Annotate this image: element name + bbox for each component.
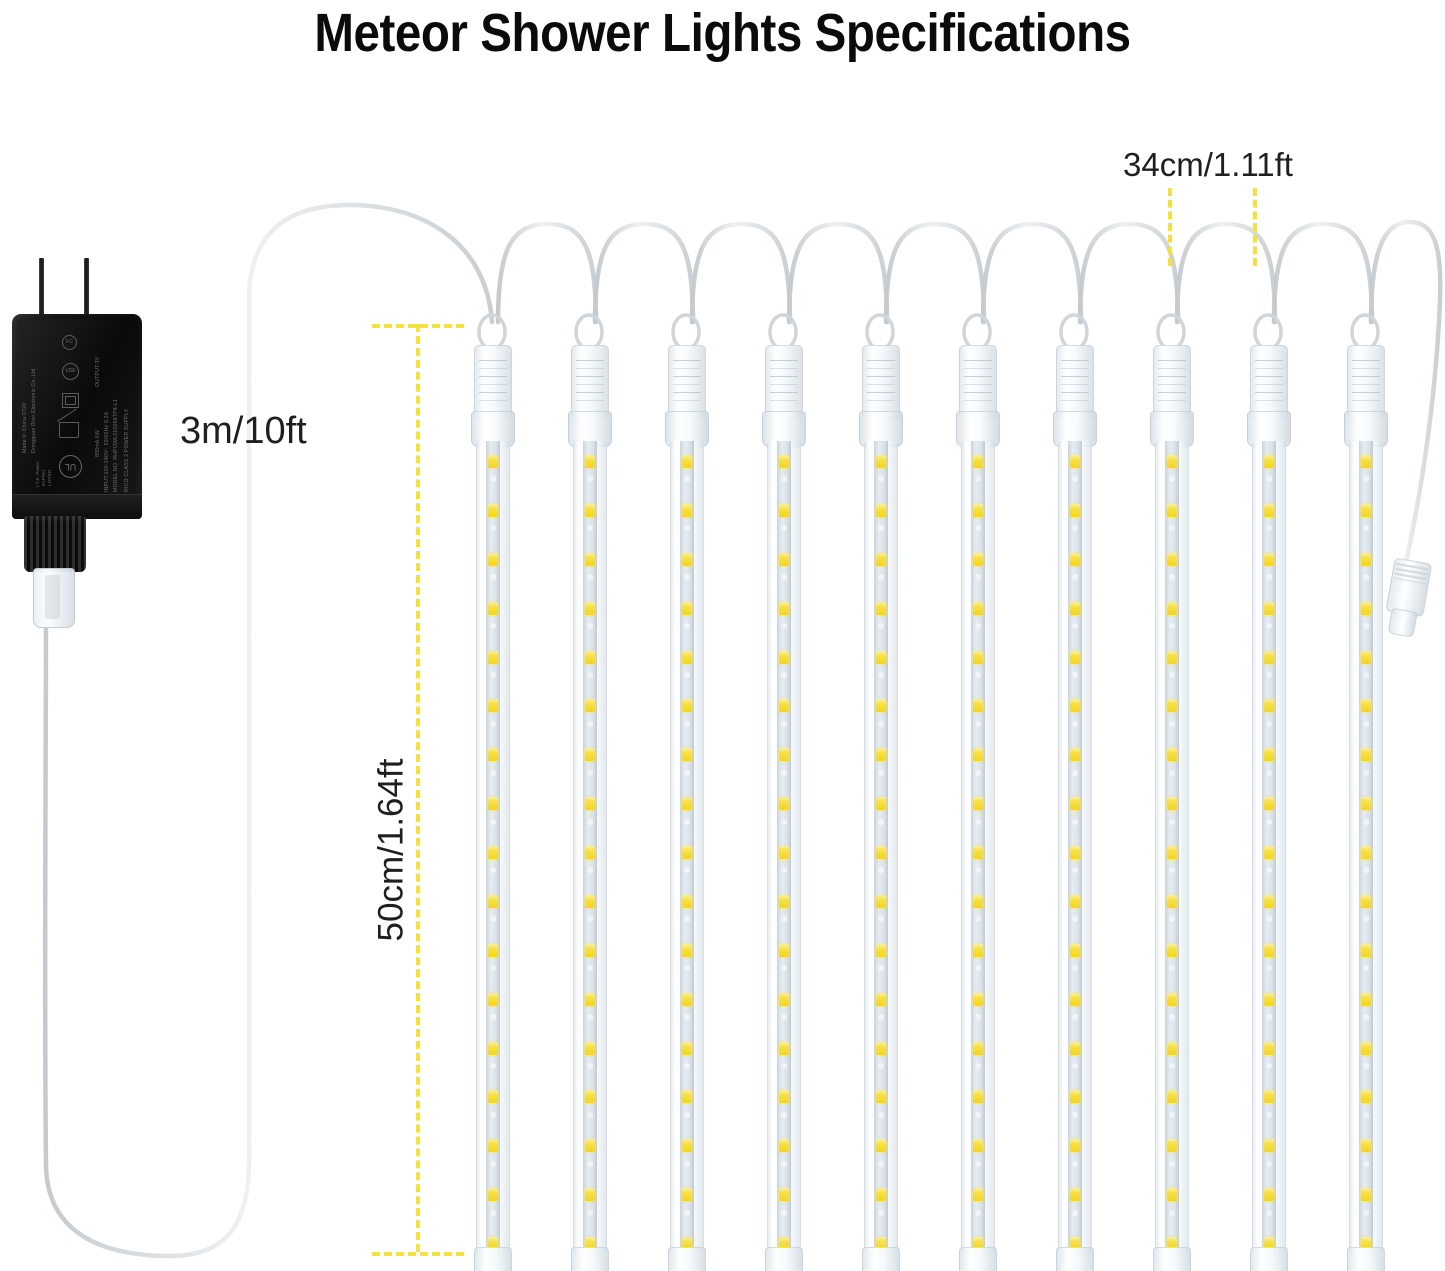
led-chip xyxy=(876,553,886,566)
hanging-loop-2 xyxy=(576,315,602,349)
led-solder-dot xyxy=(684,1161,690,1167)
led-chip xyxy=(876,748,886,761)
led-solder-dot xyxy=(1363,623,1369,629)
led-solder-dot xyxy=(878,770,884,776)
led-solder-dot xyxy=(975,525,981,531)
led-chip xyxy=(585,895,595,908)
cap-ring xyxy=(1352,376,1380,385)
tube-end-cap xyxy=(1250,1247,1288,1271)
led-solder-dot xyxy=(1169,1161,1175,1167)
led-solder-dot xyxy=(1169,623,1175,629)
led-chip xyxy=(488,944,498,957)
led-chip xyxy=(1070,1139,1080,1152)
cap-ring xyxy=(867,360,895,369)
cap-ring xyxy=(673,360,701,369)
power-adapter: RICO CLASS 2 POWER SUPPLY MODEL NO. RHPO… xyxy=(8,258,148,608)
led-chip xyxy=(488,455,498,468)
led-chip xyxy=(1361,1139,1371,1152)
led-solder-dot xyxy=(490,770,496,776)
cap-ring xyxy=(1352,360,1380,369)
tube-glass-body xyxy=(767,441,801,1253)
led-chip xyxy=(779,1090,789,1103)
led-chip xyxy=(1167,797,1177,810)
cap-ring xyxy=(1158,392,1186,401)
led-solder-dot xyxy=(684,721,690,727)
led-chip xyxy=(585,1139,595,1152)
led-chip xyxy=(1264,1042,1274,1055)
led-meteor-tube xyxy=(1148,345,1194,1271)
tube-hanging-cap xyxy=(1153,345,1191,419)
led-solder-dot xyxy=(1266,819,1272,825)
led-chip xyxy=(876,602,886,615)
tube-hanging-cap xyxy=(474,345,512,419)
led-chip xyxy=(876,504,886,517)
led-chip xyxy=(1167,602,1177,615)
led-solder-dot xyxy=(684,476,690,482)
led-solder-dot xyxy=(1266,721,1272,727)
led-chip xyxy=(973,553,983,566)
cap-ring xyxy=(867,376,895,385)
led-chip xyxy=(1070,993,1080,1006)
led-solder-dot xyxy=(975,1112,981,1118)
led-chip xyxy=(1361,699,1371,712)
led-solder-dot xyxy=(1363,721,1369,727)
led-chip xyxy=(1264,1139,1274,1152)
led-chip xyxy=(585,1188,595,1201)
led-solder-dot xyxy=(878,476,884,482)
led-chip xyxy=(1070,944,1080,957)
tube-hanging-cap xyxy=(765,345,803,419)
led-solder-dot xyxy=(587,476,593,482)
led-solder-dot xyxy=(1363,1210,1369,1216)
led-chip xyxy=(876,1090,886,1103)
led-solder-dot xyxy=(1169,965,1175,971)
led-solder-dot xyxy=(1363,1063,1369,1069)
tube-end-cap xyxy=(571,1247,609,1271)
led-chip xyxy=(1264,553,1274,566)
led-chip xyxy=(682,1090,692,1103)
led-chip xyxy=(973,504,983,517)
plug-prong-right xyxy=(84,258,89,316)
led-chip xyxy=(779,651,789,664)
led-solder-dot xyxy=(1266,672,1272,678)
cap-ring xyxy=(479,392,507,401)
led-meteor-tube xyxy=(1245,345,1291,1271)
end-connector-tip xyxy=(1388,608,1418,638)
adapter-label-manufacturer: Dongguan Rico Electronic Co.,Ltd xyxy=(31,333,37,453)
led-solder-dot xyxy=(878,916,884,922)
adapter-label-face: RICO CLASS 2 POWER SUPPLY MODEL NO. RHPO… xyxy=(17,319,136,495)
led-chip xyxy=(488,1090,498,1103)
led-solder-dot xyxy=(975,916,981,922)
cap-ring xyxy=(576,392,604,401)
led-solder-dot xyxy=(878,574,884,580)
cap-ring xyxy=(1255,360,1283,369)
led-solder-dot xyxy=(1363,1161,1369,1167)
cap-ring xyxy=(770,360,798,369)
led-chip xyxy=(585,797,595,810)
led-solder-dot xyxy=(878,965,884,971)
tube-hanging-cap xyxy=(1250,345,1288,419)
weee-bin-cross-icon xyxy=(57,408,77,421)
cap-ring xyxy=(479,376,507,385)
tube-glass-body xyxy=(573,441,607,1253)
led-solder-dot xyxy=(1169,819,1175,825)
led-chip xyxy=(1361,1090,1371,1103)
tube-end-cap xyxy=(765,1247,803,1271)
led-meteor-tube xyxy=(663,345,709,1271)
led-solder-dot xyxy=(1169,1063,1175,1069)
led-solder-dot xyxy=(781,1210,787,1216)
led-chip xyxy=(1361,504,1371,517)
led-chip xyxy=(682,1188,692,1201)
led-chip xyxy=(876,651,886,664)
page-title: Meteor Shower Lights Specifications xyxy=(87,2,1359,64)
led-solder-dot xyxy=(587,1210,593,1216)
cap-ring xyxy=(1352,392,1380,401)
cap-ring xyxy=(1255,392,1283,401)
led-solder-dot xyxy=(1363,525,1369,531)
ul-mark-icon: UL xyxy=(59,455,82,478)
led-solder-dot xyxy=(781,1112,787,1118)
led-chip xyxy=(779,455,789,468)
tube-link-wire-6 xyxy=(983,224,1081,322)
led-chip xyxy=(488,504,498,517)
led-chip xyxy=(1070,748,1080,761)
led-solder-dot xyxy=(1169,574,1175,580)
led-strip xyxy=(486,441,500,1253)
led-chip xyxy=(876,895,886,908)
led-chip xyxy=(973,1188,983,1201)
led-chip xyxy=(585,553,595,566)
led-solder-dot xyxy=(1266,574,1272,580)
led-meteor-tube xyxy=(1342,345,1388,1271)
tube-spacing-label: 34cm/1.11ft xyxy=(1123,146,1293,184)
led-solder-dot xyxy=(684,770,690,776)
led-solder-dot xyxy=(684,1063,690,1069)
led-solder-dot xyxy=(587,623,593,629)
tube-link-wire-5 xyxy=(886,224,984,322)
hanging-loop-9 xyxy=(1255,315,1281,349)
tube-spacing-tick-left xyxy=(1168,188,1172,266)
led-solder-dot xyxy=(684,965,690,971)
led-chip xyxy=(682,455,692,468)
tube-end-cap xyxy=(1056,1247,1094,1271)
led-solder-dot xyxy=(1072,1112,1078,1118)
led-chip xyxy=(779,748,789,761)
led-chip xyxy=(1167,699,1177,712)
led-solder-dot xyxy=(781,965,787,971)
led-chip xyxy=(488,1139,498,1152)
led-chip xyxy=(585,699,595,712)
led-chip xyxy=(1070,895,1080,908)
led-chip xyxy=(1167,944,1177,957)
tube-end-cap xyxy=(1347,1247,1385,1271)
led-chip xyxy=(488,602,498,615)
tube-link-wire-2 xyxy=(595,224,693,322)
led-solder-dot xyxy=(975,965,981,971)
led-chip xyxy=(973,797,983,810)
cap-ring xyxy=(964,376,992,385)
led-chip xyxy=(682,602,692,615)
led-solder-dot xyxy=(781,476,787,482)
led-solder-dot xyxy=(1266,867,1272,873)
led-solder-dot xyxy=(1363,1112,1369,1118)
adapter-strain-relief xyxy=(24,516,86,572)
led-solder-dot xyxy=(1169,867,1175,873)
tube-glass-body xyxy=(961,441,995,1253)
tube-hanging-cap xyxy=(571,345,609,419)
tube-glass-body xyxy=(864,441,898,1253)
led-chip xyxy=(585,651,595,664)
led-chip xyxy=(1070,1188,1080,1201)
led-solder-dot xyxy=(878,672,884,678)
led-solder-dot xyxy=(1266,916,1272,922)
cap-ring xyxy=(673,376,701,385)
led-solder-dot xyxy=(1266,476,1272,482)
led-solder-dot xyxy=(1266,525,1272,531)
adapter-label-brand-line: RICO CLASS 2 POWER SUPPLY xyxy=(124,327,130,492)
led-chip xyxy=(779,846,789,859)
led-chip xyxy=(1264,993,1274,1006)
adapter-label-output-amps: 850mA 6W xyxy=(95,397,101,457)
led-chip xyxy=(585,993,595,1006)
led-chip xyxy=(1361,895,1371,908)
vde-icon: VDE xyxy=(62,363,79,380)
led-chip xyxy=(1070,602,1080,615)
led-solder-dot xyxy=(1363,770,1369,776)
cap-ring xyxy=(964,392,992,401)
led-solder-dot xyxy=(587,721,593,727)
led-solder-dot xyxy=(587,916,593,922)
led-solder-dot xyxy=(490,574,496,580)
led-solder-dot xyxy=(587,770,593,776)
led-chip xyxy=(1167,895,1177,908)
led-chip xyxy=(779,797,789,810)
led-chip xyxy=(1264,748,1274,761)
led-chip xyxy=(876,1188,886,1201)
led-solder-dot xyxy=(1072,1161,1078,1167)
led-chip xyxy=(779,993,789,1006)
tube-hanging-cap xyxy=(862,345,900,419)
cap-ring xyxy=(1255,376,1283,385)
led-chip xyxy=(682,846,692,859)
led-solder-dot xyxy=(490,867,496,873)
led-chip xyxy=(1264,944,1274,957)
led-solder-dot xyxy=(1072,1210,1078,1216)
led-solder-dot xyxy=(684,1210,690,1216)
led-chip xyxy=(779,1042,789,1055)
cap-ring xyxy=(1061,360,1089,369)
tube-end-cap xyxy=(668,1247,706,1271)
led-solder-dot xyxy=(781,525,787,531)
led-chip xyxy=(973,895,983,908)
led-chip xyxy=(585,1090,595,1103)
tube-glass-body xyxy=(670,441,704,1253)
led-chip xyxy=(1070,699,1080,712)
led-chip xyxy=(1167,455,1177,468)
led-chip xyxy=(585,602,595,615)
led-solder-dot xyxy=(1266,623,1272,629)
led-solder-dot xyxy=(1363,574,1369,580)
led-solder-dot xyxy=(490,623,496,629)
wire-layer xyxy=(0,0,1445,1271)
led-solder-dot xyxy=(1363,672,1369,678)
led-solder-dot xyxy=(1072,819,1078,825)
led-solder-dot xyxy=(878,819,884,825)
hanging-loop-5 xyxy=(867,315,893,349)
led-chip xyxy=(585,944,595,957)
tube-link-wire-1 xyxy=(498,224,596,322)
led-solder-dot xyxy=(781,1014,787,1020)
led-solder-dot xyxy=(490,721,496,727)
led-chip xyxy=(1264,895,1274,908)
led-solder-dot xyxy=(490,916,496,922)
led-chip xyxy=(973,602,983,615)
hanging-loop-4 xyxy=(770,315,796,349)
led-chip xyxy=(1167,1139,1177,1152)
led-solder-dot xyxy=(878,1210,884,1216)
led-chip xyxy=(488,748,498,761)
tube-link-wire-8 xyxy=(1177,224,1275,322)
led-chip xyxy=(876,846,886,859)
led-chip xyxy=(585,504,595,517)
led-chip xyxy=(973,944,983,957)
led-solder-dot xyxy=(975,672,981,678)
led-chip xyxy=(1361,846,1371,859)
led-solder-dot xyxy=(1072,525,1078,531)
led-chip xyxy=(488,699,498,712)
led-chip xyxy=(1264,651,1274,664)
cap-ring xyxy=(964,360,992,369)
led-solder-dot xyxy=(781,574,787,580)
led-chip xyxy=(973,1042,983,1055)
led-meteor-tube xyxy=(1051,345,1097,1271)
led-chip xyxy=(1070,1090,1080,1103)
led-solder-dot xyxy=(490,1112,496,1118)
adapter-housing: RICO CLASS 2 POWER SUPPLY MODEL NO. RHPO… xyxy=(12,314,142,519)
led-chip xyxy=(1070,797,1080,810)
led-solder-dot xyxy=(781,770,787,776)
led-chip xyxy=(1167,553,1177,566)
cap-ring xyxy=(576,360,604,369)
led-solder-dot xyxy=(1363,1014,1369,1020)
led-chip xyxy=(779,699,789,712)
tube-glass-body xyxy=(476,441,510,1253)
ul-category-text: I.T.E. Power xyxy=(35,451,40,487)
tube-link-wire-9 xyxy=(1274,224,1372,322)
led-solder-dot xyxy=(1266,1161,1272,1167)
led-solder-dot xyxy=(1072,672,1078,678)
led-solder-dot xyxy=(1169,476,1175,482)
led-solder-dot xyxy=(684,574,690,580)
led-chip xyxy=(779,1139,789,1152)
led-strip xyxy=(971,441,985,1253)
cap-ring xyxy=(1061,376,1089,385)
led-solder-dot xyxy=(1363,819,1369,825)
adapter-label-output: OUTPUT:3V xyxy=(95,327,101,387)
led-chip xyxy=(779,553,789,566)
led-solder-dot xyxy=(1363,476,1369,482)
led-solder-dot xyxy=(1072,1014,1078,1020)
led-solder-dot xyxy=(975,819,981,825)
led-chip xyxy=(682,797,692,810)
led-solder-dot xyxy=(587,574,593,580)
led-solder-dot xyxy=(781,672,787,678)
led-solder-dot xyxy=(975,1014,981,1020)
led-meteor-tube xyxy=(566,345,612,1271)
led-solder-dot xyxy=(1363,867,1369,873)
led-solder-dot xyxy=(490,965,496,971)
led-solder-dot xyxy=(587,965,593,971)
led-chip xyxy=(585,1042,595,1055)
led-chip xyxy=(876,944,886,957)
led-chip xyxy=(1264,455,1274,468)
led-meteor-tube xyxy=(760,345,806,1271)
led-meteor-tube xyxy=(954,345,1000,1271)
led-chip xyxy=(488,1188,498,1201)
led-solder-dot xyxy=(490,672,496,678)
led-solder-dot xyxy=(1169,770,1175,776)
cap-ring xyxy=(770,392,798,401)
led-chip xyxy=(1361,602,1371,615)
led-solder-dot xyxy=(684,1014,690,1020)
led-solder-dot xyxy=(781,867,787,873)
tube-link-wire-3 xyxy=(692,224,790,322)
tube-hanging-cap xyxy=(1347,345,1385,419)
led-solder-dot xyxy=(878,867,884,873)
led-solder-dot xyxy=(1072,476,1078,482)
cap-ring xyxy=(770,376,798,385)
led-solder-dot xyxy=(878,1112,884,1118)
led-chip xyxy=(682,944,692,957)
tube-link-wire-7 xyxy=(1080,224,1178,322)
led-strip xyxy=(1068,441,1082,1253)
led-solder-dot xyxy=(1266,1210,1272,1216)
led-chip xyxy=(1070,553,1080,566)
hanging-loop-7 xyxy=(1061,315,1087,349)
led-strip xyxy=(874,441,888,1253)
led-chip xyxy=(1070,504,1080,517)
led-chip xyxy=(876,797,886,810)
spec-diagram-canvas: Meteor Shower Lights Specifications xyxy=(0,0,1445,1271)
led-chip xyxy=(779,504,789,517)
female-end-connector xyxy=(1382,557,1431,638)
led-chip xyxy=(488,651,498,664)
led-solder-dot xyxy=(1072,721,1078,727)
led-chip xyxy=(779,1188,789,1201)
tube-end-cap xyxy=(474,1247,512,1271)
led-solder-dot xyxy=(684,867,690,873)
led-chip xyxy=(585,846,595,859)
led-chip xyxy=(682,895,692,908)
led-chip xyxy=(973,699,983,712)
tube-end-cap xyxy=(862,1247,900,1271)
led-solder-dot xyxy=(878,1161,884,1167)
led-solder-dot xyxy=(1169,525,1175,531)
led-chip xyxy=(1167,1042,1177,1055)
led-chip xyxy=(1167,993,1177,1006)
led-chip xyxy=(1070,651,1080,664)
led-solder-dot xyxy=(1363,965,1369,971)
led-solder-dot xyxy=(1072,965,1078,971)
tube-hanging-cap xyxy=(668,345,706,419)
led-chip xyxy=(585,455,595,468)
led-chip xyxy=(1264,504,1274,517)
led-strip xyxy=(680,441,694,1253)
led-solder-dot xyxy=(1072,867,1078,873)
led-strip xyxy=(777,441,791,1253)
